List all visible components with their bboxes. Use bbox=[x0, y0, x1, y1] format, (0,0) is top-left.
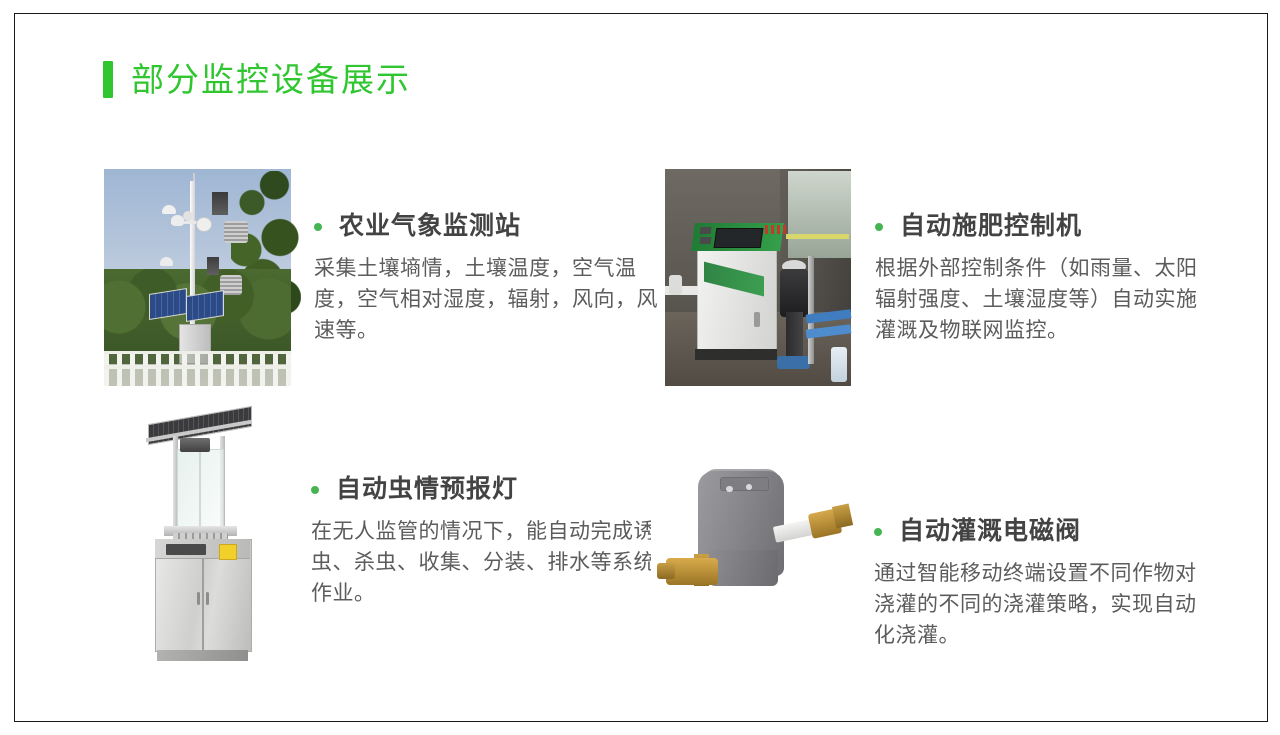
bullet-dot-icon bbox=[874, 528, 882, 536]
fence-rail bbox=[104, 365, 291, 369]
controller-display-screen bbox=[714, 228, 763, 248]
bullet-dot-icon bbox=[314, 223, 322, 231]
cabinet-plinth bbox=[157, 650, 248, 661]
wind-vane-sensor-icon bbox=[196, 217, 212, 232]
photo-fertilizer-controller bbox=[665, 169, 851, 386]
bullet-dot-icon bbox=[875, 223, 883, 231]
slide-title: 部分监控设备展示 bbox=[103, 61, 411, 98]
photo-weather-station bbox=[104, 169, 291, 386]
photo-solenoid-valve bbox=[651, 446, 866, 626]
controller-button-lower bbox=[700, 237, 712, 244]
slide-frame: 部分监控设备展示 bbox=[14, 13, 1268, 722]
radiation-sensor-icon bbox=[183, 211, 193, 221]
cabinet-base bbox=[695, 349, 777, 360]
cabinet-handle-left bbox=[197, 592, 200, 605]
text-weather-station: 农业气象监测站 采集土壤墒情，土壤温度，空气温度，空气相对湿度，辐射，风向，风速… bbox=[314, 169, 664, 346]
warning-label-icon bbox=[219, 544, 237, 559]
valve-indicator-led-left bbox=[726, 486, 732, 492]
pump-column bbox=[786, 312, 803, 360]
item-body: 根据外部控制条件（如雨量、太阳辐射强度、土壤湿度等）自动实施灌溉及物联网监控。 bbox=[875, 253, 1215, 346]
sensor-box-upper bbox=[212, 192, 228, 215]
photo-insect-lamp bbox=[104, 404, 286, 669]
controller-cabinet bbox=[697, 241, 777, 356]
heading-line: 自动灌溉电磁阀 bbox=[874, 518, 1214, 546]
heading-line: 农业气象监测站 bbox=[314, 213, 664, 241]
heading-line: 自动施肥控制机 bbox=[875, 213, 1215, 241]
text-fertilizer-controller: 自动施肥控制机 根据外部控制条件（如雨量、太阳辐射强度、土壤湿度等）自动实施灌溉… bbox=[875, 169, 1215, 346]
valve-body-lower bbox=[709, 550, 778, 586]
item-insect-lamp: 自动虫情预报灯 在无人监管的情况下，能自动完成诱虫、杀虫、收集、分装、排水等系统… bbox=[104, 404, 661, 669]
pump-motor bbox=[780, 269, 808, 317]
support-frame-bar bbox=[808, 256, 814, 365]
anemometer-sensor-icon bbox=[162, 205, 176, 214]
item-body: 通过智能移动终端设置不同作物对浇灌的不同的浇灌策略，实现自动化浇灌。 bbox=[874, 558, 1214, 651]
item-heading: 自动施肥控制机 bbox=[900, 213, 1082, 241]
bullet-dot-icon bbox=[311, 486, 319, 494]
text-solenoid-valve: 自动灌溉电磁阀 通过智能移动终端设置不同作物对浇灌的不同的浇灌策略，实现自动化浇… bbox=[874, 446, 1214, 651]
item-weather-station: 农业气象监测站 采集土壤墒情，土壤温度，空气温度，空气相对湿度，辐射，风向，风速… bbox=[104, 169, 664, 386]
page-title: 部分监控设备展示 bbox=[131, 63, 411, 96]
chemical-bottle bbox=[831, 347, 848, 382]
item-heading: 农业气象监测站 bbox=[339, 213, 521, 241]
cabinet-door-split bbox=[202, 558, 204, 651]
controller-knob-row bbox=[765, 225, 787, 234]
left-valve-fitting bbox=[669, 275, 682, 295]
text-insect-lamp: 自动虫情预报灯 在无人监管的情况下，能自动完成诱虫、杀虫、收集、分装、排水等系统… bbox=[311, 404, 661, 609]
valve-indicator-led-right bbox=[746, 484, 752, 490]
cup-anemometer-icon bbox=[160, 257, 173, 266]
item-fertilizer-controller: 自动施肥控制机 根据外部控制条件（如雨量、太阳辐射强度、土壤湿度等）自动实施灌溉… bbox=[665, 169, 1215, 386]
sensor-box-lower bbox=[207, 257, 219, 275]
title-accent-bar bbox=[103, 61, 113, 98]
cabinet-door-handle bbox=[754, 312, 760, 327]
controller-button-upper bbox=[700, 227, 712, 234]
radiation-shield-upper bbox=[224, 221, 248, 243]
cabinet-handle-right bbox=[206, 592, 209, 605]
brass-outlet-tip bbox=[832, 504, 853, 529]
lamp-tube-head bbox=[180, 438, 209, 451]
item-body: 采集土壤墒情，土壤温度，空气温度，空气相对湿度，辐射，风向，风速等。 bbox=[314, 253, 664, 346]
item-heading: 自动虫情预报灯 bbox=[336, 476, 518, 504]
item-heading: 自动灌溉电磁阀 bbox=[899, 518, 1081, 546]
heading-line: 自动虫情预报灯 bbox=[311, 476, 661, 504]
glass-chamber-edge bbox=[199, 449, 202, 529]
control-plate bbox=[166, 544, 206, 555]
item-body: 在无人监管的情况下，能自动完成诱虫、杀虫、收集、分装、排水等系统作业。 bbox=[311, 516, 661, 609]
item-solenoid-valve: 自动灌溉电磁阀 通过智能移动终端设置不同作物对浇灌的不同的浇灌策略，实现自动化浇… bbox=[651, 446, 1214, 651]
pump-foot bbox=[777, 356, 810, 369]
window-opening bbox=[788, 171, 851, 258]
window-bar bbox=[786, 234, 849, 239]
brass-inlet-tip bbox=[657, 563, 674, 579]
